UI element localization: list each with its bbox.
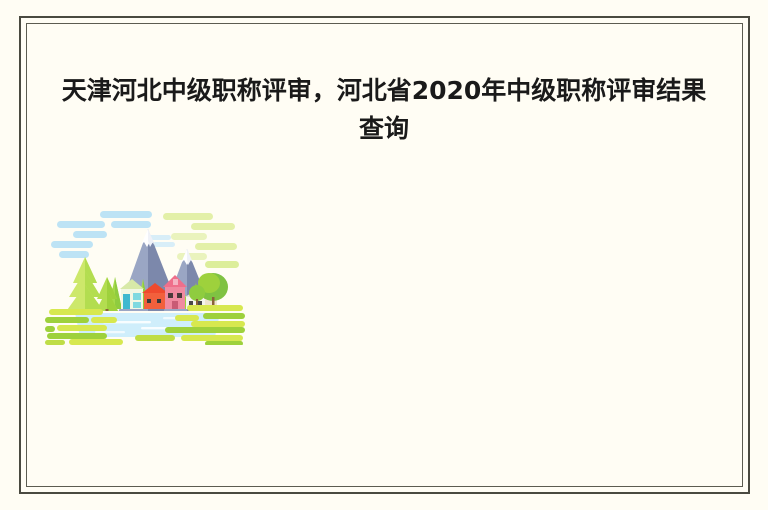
page-root: 天津河北中级职称评审，河北省2020年中级职称评审结果查询 [0, 0, 768, 510]
page-title: 天津河北中级职称评审，河北省2020年中级职称评审结果查询 [52, 72, 716, 148]
landscape-illustration [45, 205, 245, 345]
landscape-illustration-svg [45, 205, 245, 345]
